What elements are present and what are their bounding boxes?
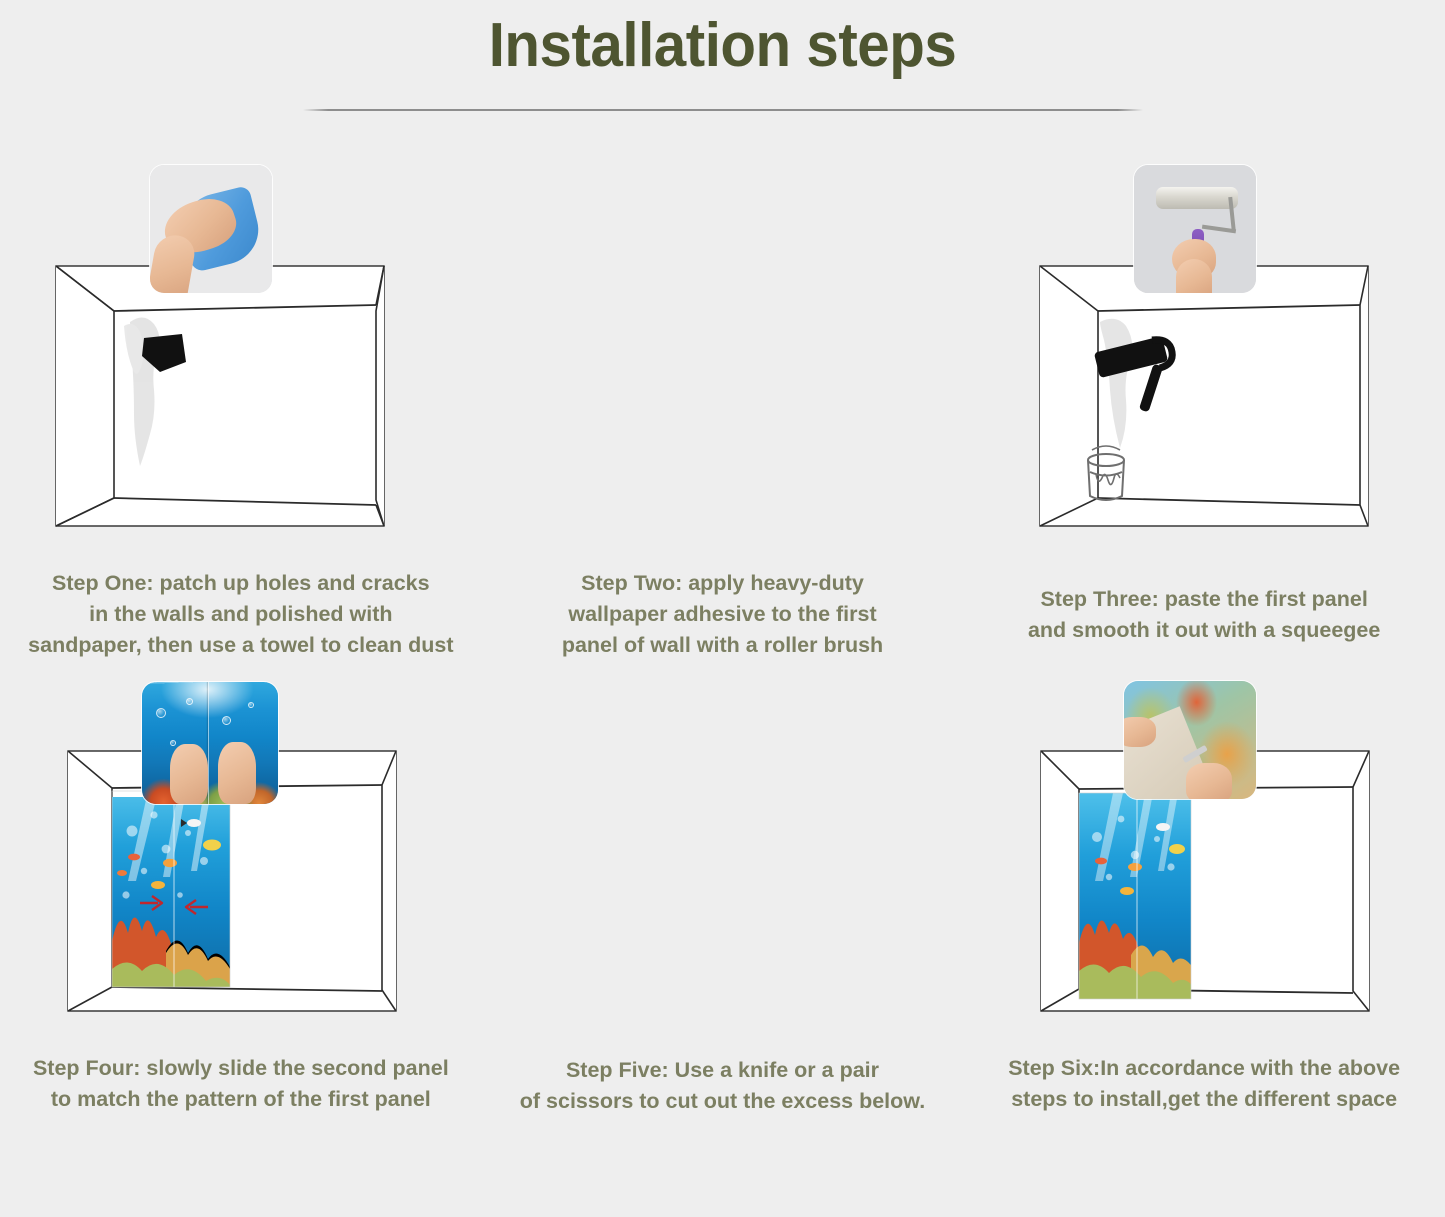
- caption-line: Step Four: slowly slide the second panel: [14, 1053, 468, 1084]
- photo-thumbnail-step-4: [142, 682, 278, 804]
- photo-thumbnail-step-1: [150, 165, 272, 293]
- caption-line: Step Six:In accordance with the above: [977, 1053, 1431, 1084]
- photo-thumbnail-step-2: [1134, 165, 1256, 293]
- page-title: Installation steps: [43, 0, 1401, 81]
- forearm: [1176, 259, 1212, 293]
- right-hand: [218, 742, 256, 804]
- caption-line: steps to install,get the different space: [977, 1084, 1431, 1115]
- panel-seam: [208, 682, 209, 804]
- caption-line: in the walls and polished with: [14, 599, 468, 630]
- photo-hand-with-cloth: [150, 165, 272, 293]
- room-perspective-svg: [50, 260, 390, 532]
- step-caption-2: Step Two: apply heavy-duty wallpaper adh…: [482, 568, 964, 661]
- caption-line: wallpaper adhesive to the first: [496, 599, 950, 630]
- bubbles: [142, 682, 278, 804]
- step-caption-3: Step Three: paste the first panel and sm…: [963, 584, 1445, 646]
- step-card-4: Step Four: slowly slide the second panel…: [0, 683, 482, 1216]
- roller-sleeve: [1156, 187, 1238, 209]
- page-header: Installation steps: [0, 0, 1445, 111]
- title-divider: [303, 109, 1143, 111]
- step-caption-4: Step Four: slowly slide the second panel…: [0, 1053, 482, 1115]
- room-diagram-1: [50, 260, 390, 532]
- steps-grid: Step One: patch up holes and cracks in t…: [0, 150, 1445, 1216]
- photo-thumbnail-step-5: [1124, 681, 1256, 799]
- left-hand: [170, 744, 208, 804]
- step-card-5: Step Five: Use a knife or a pair of scis…: [482, 683, 964, 1216]
- caption-line: Step Five: Use a knife or a pair: [496, 1055, 950, 1086]
- step-caption-1: Step One: patch up holes and cracks in t…: [0, 568, 482, 661]
- mural-panels-two: [112, 791, 230, 987]
- step-caption-6: Step Six:In accordance with the above st…: [963, 1053, 1445, 1115]
- caption-line: sandpaper, then use a towel to clean dus…: [14, 630, 468, 661]
- caption-line: Step One: patch up holes and cracks: [14, 568, 468, 599]
- caption-line: and smooth it out with a squeegee: [977, 615, 1431, 646]
- step-card-2: Step Two: apply heavy-duty wallpaper adh…: [482, 150, 964, 683]
- photo-trimming-edge: [1124, 681, 1256, 799]
- caption-line: Step Two: apply heavy-duty: [496, 568, 950, 599]
- caption-line: of scissors to cut out the excess below.: [496, 1086, 950, 1117]
- photo-hand-with-roller: [1134, 165, 1256, 293]
- caption-line: panel of wall with a roller brush: [496, 630, 950, 661]
- photo-hands-smoothing: [142, 682, 278, 804]
- caption-line: Step Three: paste the first panel: [977, 584, 1431, 615]
- step-card-1: Step One: patch up holes and cracks in t…: [0, 150, 482, 683]
- caption-line: to match the pattern of the first panel: [14, 1084, 468, 1115]
- left-hand: [1124, 717, 1156, 747]
- step-caption-5: Step Five: Use a knife or a pair of scis…: [482, 1055, 964, 1117]
- right-hand: [1186, 763, 1232, 799]
